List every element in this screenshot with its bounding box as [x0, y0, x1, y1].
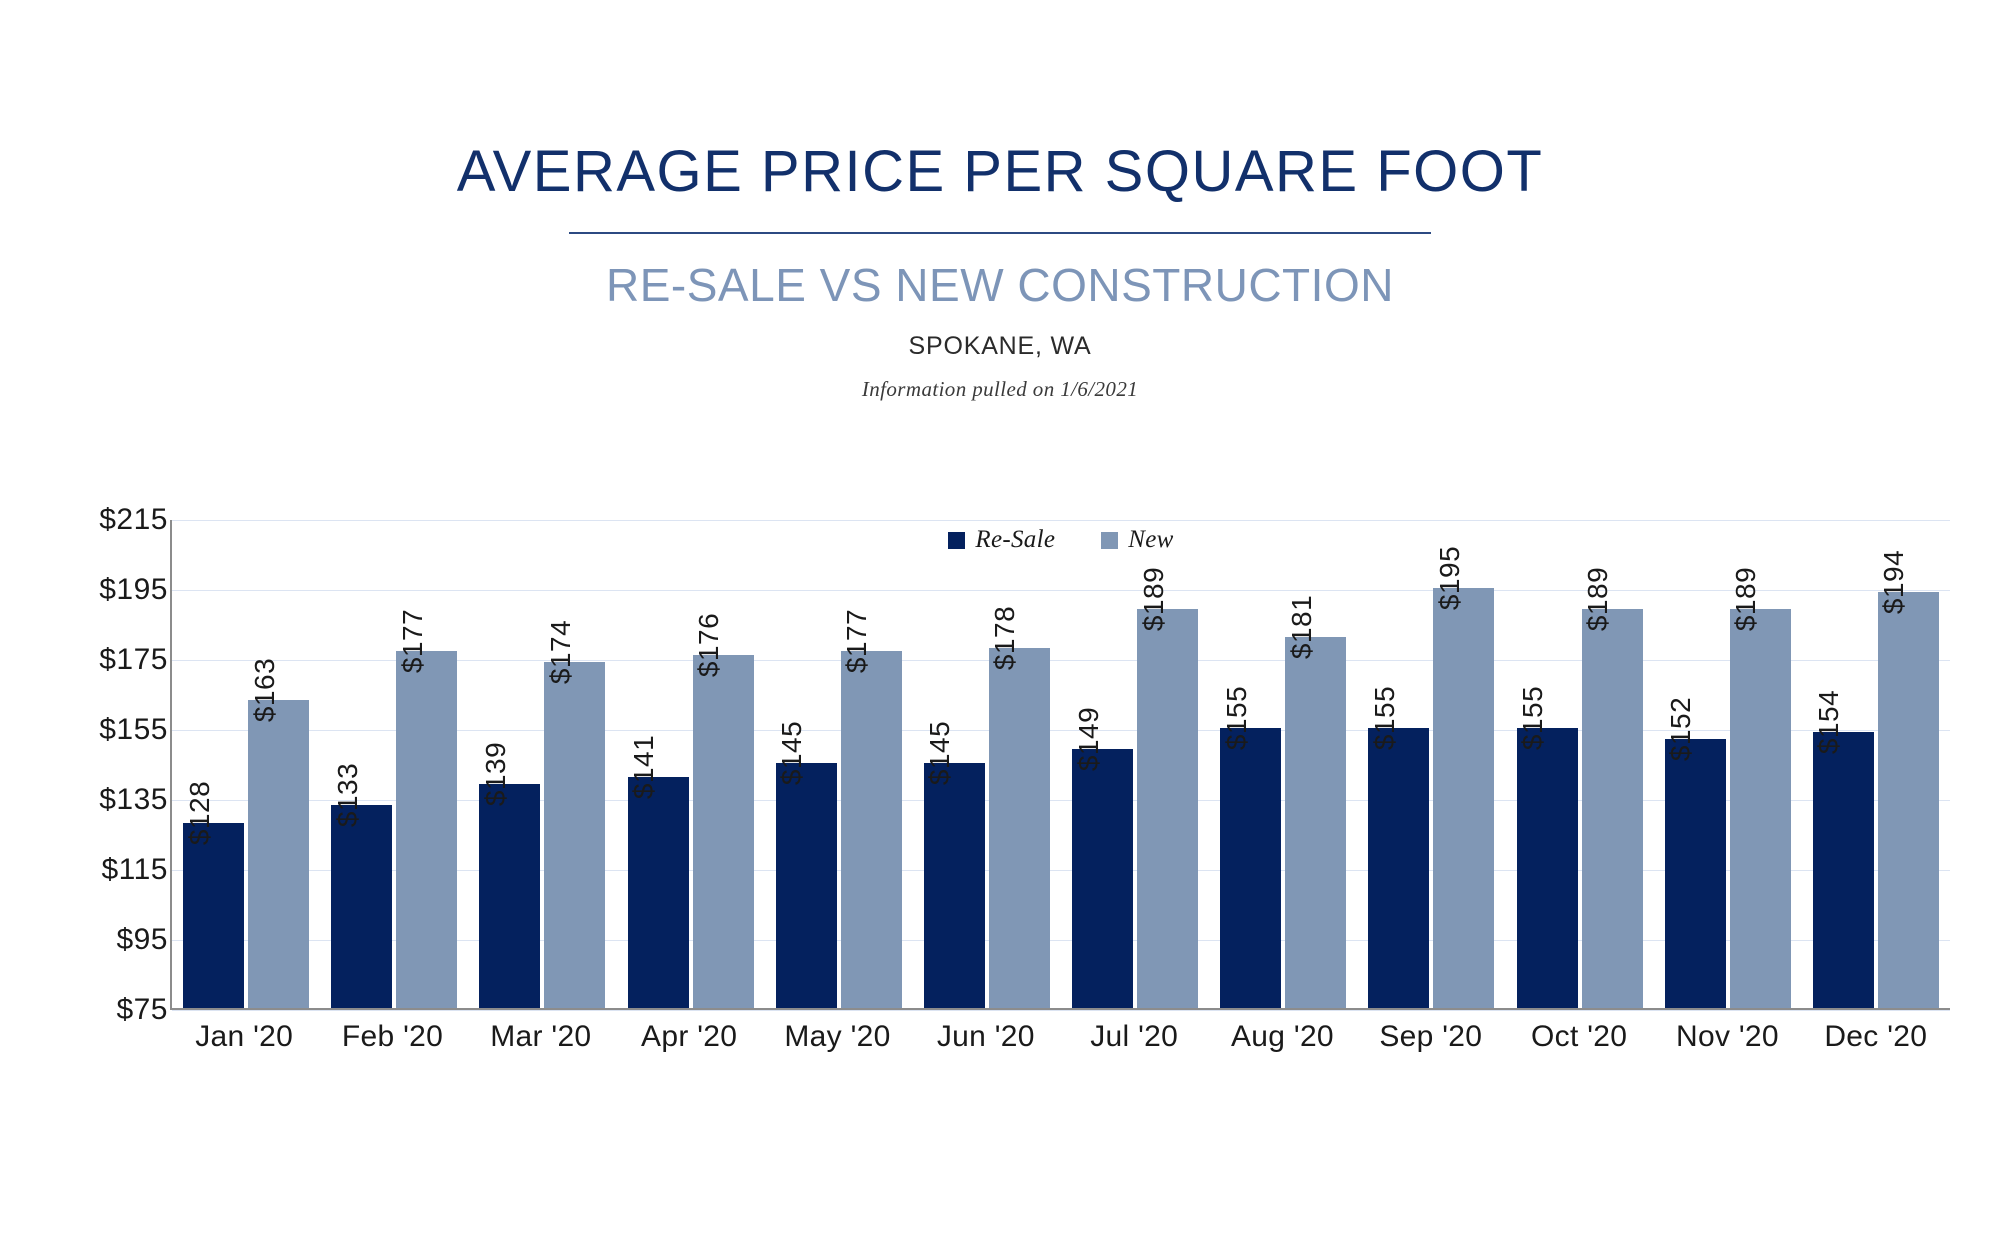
bar-value-label: $154 — [1815, 689, 1843, 753]
bar-resale[interactable]: $154 — [1813, 732, 1874, 1009]
x-axis-tick-label: Dec '20 — [1802, 1020, 1950, 1054]
bar-value-label: $155 — [1223, 686, 1251, 750]
bar-new[interactable]: $178 — [989, 648, 1050, 1009]
bar-new[interactable]: $189 — [1730, 609, 1791, 1008]
plot-area: Re-SaleNew $128$163$133$177$139$174$141$… — [170, 520, 1950, 1010]
bar-value-label: $145 — [778, 721, 806, 785]
bar-resale[interactable]: $149 — [1072, 749, 1133, 1008]
legend-label: New — [1128, 526, 1173, 554]
bar-group: $154$194 — [1802, 520, 1950, 1008]
bar-new[interactable]: $176 — [693, 655, 754, 1009]
x-axis-tick-label: Aug '20 — [1208, 1020, 1356, 1054]
bar-new[interactable]: $189 — [1582, 609, 1643, 1008]
bar-value-label: $155 — [1371, 686, 1399, 750]
bar-value-label: $189 — [1732, 567, 1760, 631]
bar-resale[interactable]: $133 — [331, 805, 392, 1008]
x-axis-tick-label: Feb '20 — [318, 1020, 466, 1054]
bar-group: $152$189 — [1654, 520, 1802, 1008]
bar-resale[interactable]: $128 — [183, 823, 244, 1009]
y-axis-tick-label: $75 — [116, 993, 168, 1027]
bar-resale[interactable]: $139 — [479, 784, 540, 1008]
x-axis-tick-label: Sep '20 — [1357, 1020, 1505, 1054]
x-axis-tick-label: May '20 — [763, 1020, 911, 1054]
bar-group: $155$189 — [1506, 520, 1654, 1008]
bar-group: $133$177 — [320, 520, 468, 1008]
bar-resale[interactable]: $155 — [1517, 728, 1578, 1008]
bar-value-label: $155 — [1519, 686, 1547, 750]
bar-group: $145$177 — [765, 520, 913, 1008]
gridline — [172, 1010, 1950, 1011]
chart-header: AVERAGE PRICE PER SQUARE FOOT RE-SALE VS… — [0, 140, 2000, 402]
bar-value-label: $189 — [1140, 567, 1168, 631]
x-axis-tick-label: Apr '20 — [615, 1020, 763, 1054]
title-divider — [569, 232, 1431, 234]
bar-value-label: $181 — [1288, 595, 1316, 659]
bar-group: $128$163 — [172, 520, 320, 1008]
x-axis-tick-label: Oct '20 — [1505, 1020, 1653, 1054]
bar-value-label: $194 — [1880, 549, 1908, 613]
page-subtitle: RE-SALE VS NEW CONSTRUCTION — [0, 260, 2000, 311]
x-axis-labels: Jan '20Feb '20Mar '20Apr '20May '20Jun '… — [170, 1020, 1950, 1054]
bar-value-label: $189 — [1584, 567, 1612, 631]
chart-legend: Re-SaleNew — [172, 526, 1950, 554]
bar-new[interactable]: $189 — [1137, 609, 1198, 1008]
y-axis-tick-label: $215 — [99, 503, 168, 537]
chart-page: AVERAGE PRICE PER SQUARE FOOT RE-SALE VS… — [0, 0, 2000, 1250]
bar-new[interactable]: $174 — [544, 662, 605, 1009]
bar-new[interactable]: $195 — [1433, 588, 1494, 1008]
x-axis-tick-label: Mar '20 — [467, 1020, 615, 1054]
bar-group: $155$181 — [1209, 520, 1357, 1008]
legend-swatch-icon — [1101, 532, 1118, 549]
bar-value-label: $176 — [695, 612, 723, 676]
bar-new[interactable]: $177 — [841, 651, 902, 1008]
bar-resale[interactable]: $152 — [1665, 739, 1726, 1009]
bar-new[interactable]: $177 — [396, 651, 457, 1008]
legend-label: Re-Sale — [975, 526, 1055, 554]
bar-new[interactable]: $194 — [1878, 592, 1939, 1009]
bar-resale[interactable]: $141 — [628, 777, 689, 1008]
y-axis-labels: $215$195$175$155$135$115$95$75 — [60, 520, 168, 1010]
y-axis-tick-label: $95 — [116, 923, 168, 957]
y-axis-tick-label: $175 — [99, 643, 168, 677]
bar-value-label: $177 — [843, 609, 871, 673]
bar-group: $139$174 — [468, 520, 616, 1008]
bar-group: $141$176 — [617, 520, 765, 1008]
bar-resale[interactable]: $155 — [1368, 728, 1429, 1008]
legend-swatch-icon — [948, 532, 965, 549]
y-axis-tick-label: $135 — [99, 783, 168, 817]
data-pulled-date: Information pulled on 1/6/2021 — [0, 377, 2000, 402]
bar-value-label: $152 — [1667, 696, 1695, 760]
bar-value-label: $128 — [186, 780, 214, 844]
bar-value-label: $139 — [482, 742, 510, 806]
bar-resale[interactable]: $155 — [1220, 728, 1281, 1008]
x-axis-tick-label: Nov '20 — [1653, 1020, 1801, 1054]
bar-new[interactable]: $181 — [1285, 637, 1346, 1008]
legend-item[interactable]: New — [1101, 526, 1173, 554]
bar-value-label: $177 — [399, 609, 427, 673]
legend-item[interactable]: Re-Sale — [948, 526, 1055, 554]
bar-value-label: $163 — [251, 658, 279, 722]
x-axis-tick-label: Jul '20 — [1060, 1020, 1208, 1054]
page-title: AVERAGE PRICE PER SQUARE FOOT — [0, 140, 2000, 204]
x-axis-tick-label: Jan '20 — [170, 1020, 318, 1054]
bar-value-label: $174 — [547, 619, 575, 683]
bar-value-label: $195 — [1436, 546, 1464, 610]
bar-group: $149$189 — [1061, 520, 1209, 1008]
bar-new[interactable]: $163 — [248, 700, 309, 1008]
bar-resale[interactable]: $145 — [924, 763, 985, 1008]
bar-group: $155$195 — [1357, 520, 1505, 1008]
bar-value-label: $178 — [991, 605, 1019, 669]
bar-value-label: $149 — [1075, 707, 1103, 771]
y-axis-tick-label: $115 — [101, 853, 168, 887]
y-axis-tick-label: $155 — [99, 713, 168, 747]
location-label: SPOKANE, WA — [0, 332, 2000, 361]
x-axis-tick-label: Jun '20 — [912, 1020, 1060, 1054]
bar-groups: $128$163$133$177$139$174$141$176$145$177… — [172, 520, 1950, 1008]
bar-value-label: $145 — [926, 721, 954, 785]
bar-resale[interactable]: $145 — [776, 763, 837, 1008]
y-axis-tick-label: $195 — [99, 573, 168, 607]
bar-value-label: $133 — [334, 763, 362, 827]
bar-chart: $215$195$175$155$135$115$95$75 Re-SaleNe… — [0, 520, 2000, 1100]
bar-value-label: $141 — [630, 735, 658, 799]
bar-group: $145$178 — [913, 520, 1061, 1008]
